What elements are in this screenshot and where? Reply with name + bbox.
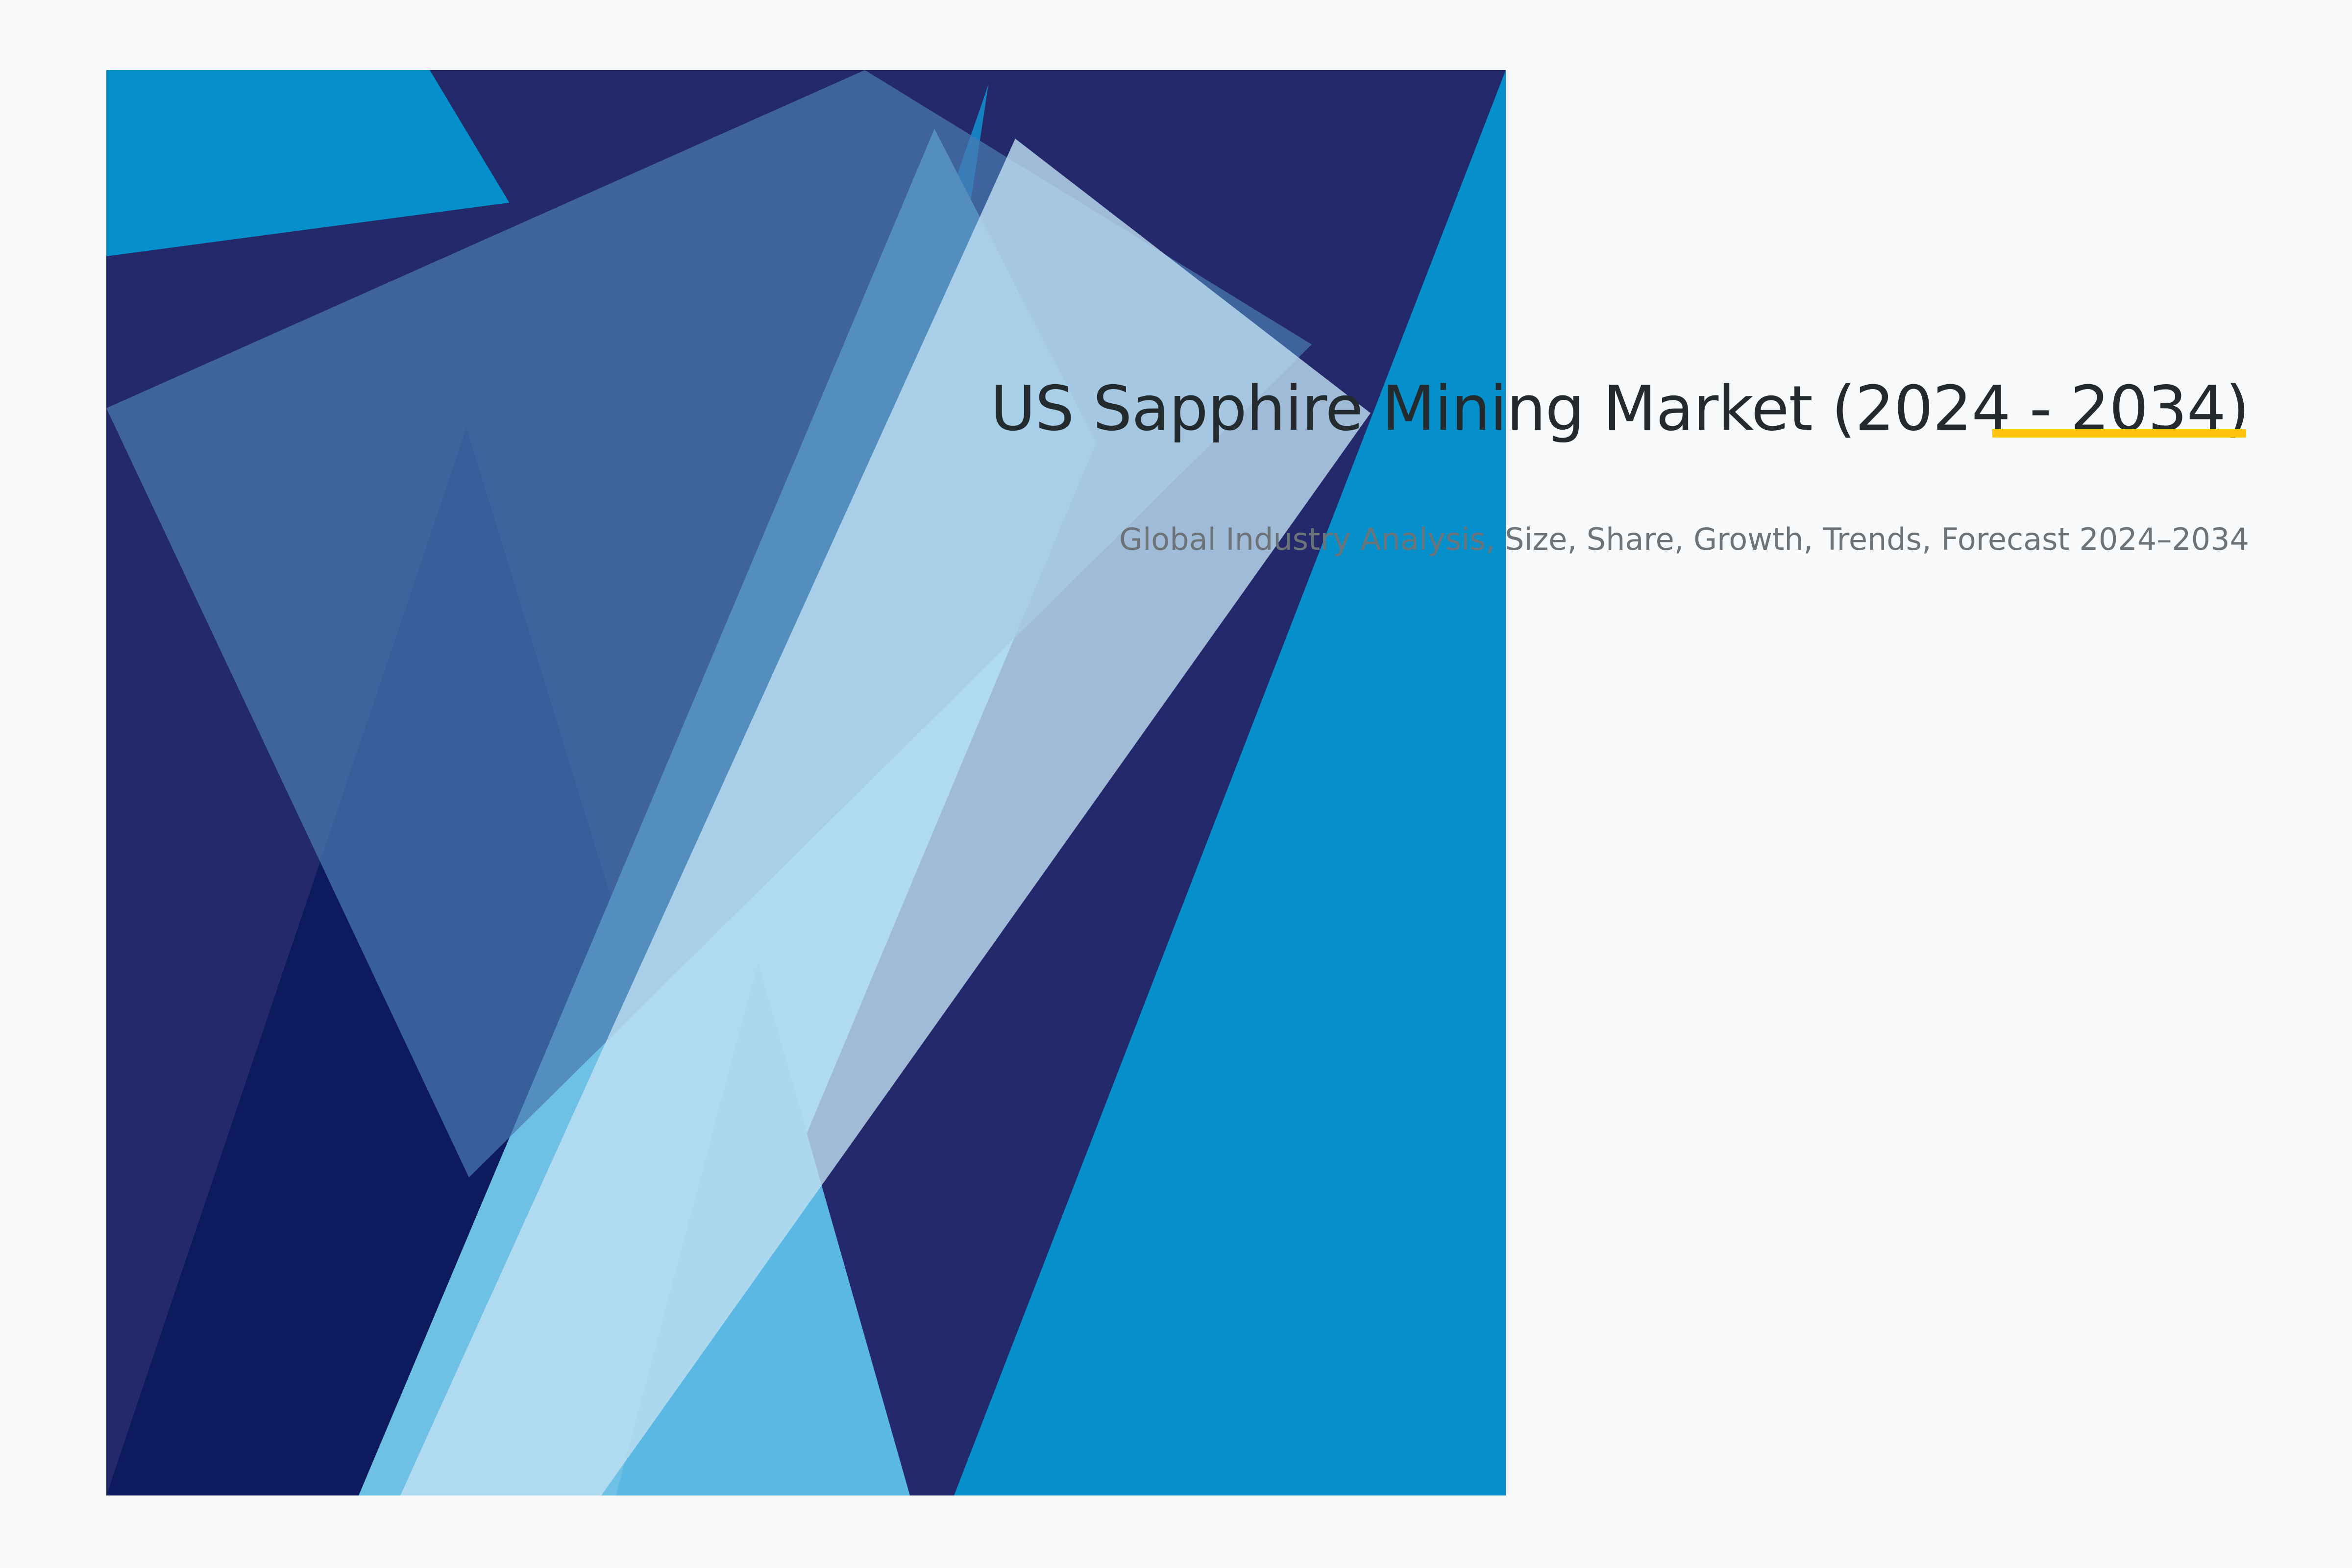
title-slide: US Sapphire Mining Market (2024 - 2034) … (0, 0, 2352, 1568)
title-wrapper: US Sapphire Mining Market (2024 - 2034) (784, 372, 2249, 445)
page-subtitle: Global Industry Analysis, Size, Share, G… (784, 519, 2249, 560)
abstract-polygon-graphic (106, 70, 1506, 1495)
title-accent-underline (1992, 429, 2246, 438)
decorative-artwork-panel (106, 70, 1506, 1495)
slide-text-block: US Sapphire Mining Market (2024 - 2034) … (784, 372, 2249, 560)
